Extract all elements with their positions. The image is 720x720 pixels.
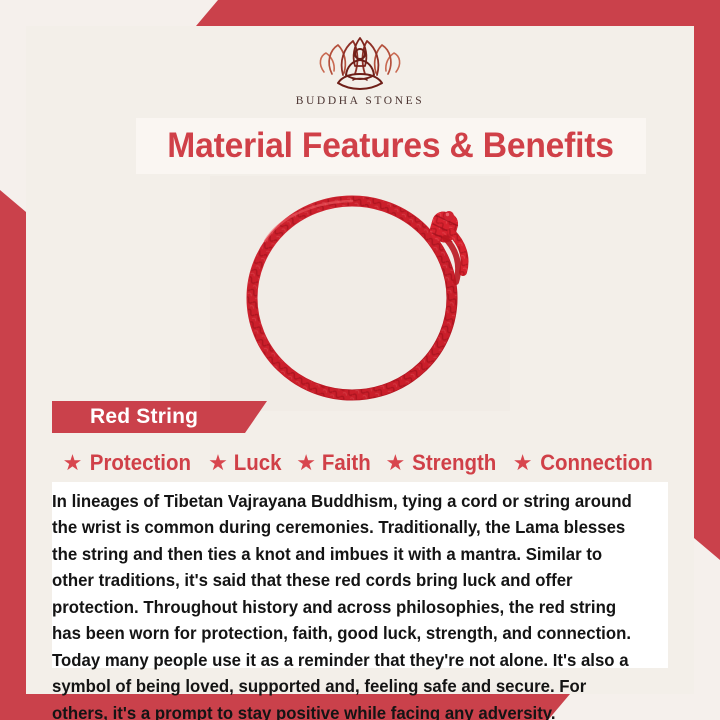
benefit-item-luck: ★ Luck — [203, 450, 288, 476]
description-text: In lineages of Tibetan Vajrayana Buddhis… — [52, 488, 635, 720]
product-name-banner: Red String — [52, 401, 267, 433]
decorative-band-left — [0, 190, 26, 720]
star-icon: ★ — [513, 452, 533, 474]
benefit-item-connection: ★ Connection — [508, 450, 663, 476]
brand-logo: BUDDHA STONES — [26, 34, 694, 107]
infographic-card: BUDDHA STONES Material Features & Benefi… — [0, 0, 720, 720]
product-name: Red String — [90, 405, 198, 429]
benefit-label: Luck — [234, 450, 282, 476]
benefit-item-protection: ★ Protection — [58, 450, 201, 476]
benefit-item-faith: ★ Faith — [291, 450, 377, 476]
decorative-band-right — [694, 0, 720, 560]
product-image — [210, 176, 510, 411]
star-icon: ★ — [386, 452, 406, 474]
headline-banner: Material Features & Benefits — [136, 118, 646, 174]
red-string-bracelet-illustration — [235, 186, 485, 401]
star-icon: ★ — [208, 452, 228, 474]
benefit-label: Faith — [322, 450, 371, 476]
description-panel: In lineages of Tibetan Vajrayana Buddhis… — [52, 482, 668, 668]
brand-name: BUDDHA STONES — [296, 95, 424, 107]
star-icon: ★ — [63, 452, 83, 474]
benefit-item-strength: ★ Strength — [381, 450, 505, 476]
page-title: Material Features & Benefits — [168, 126, 615, 166]
benefits-list: ★ Protection ★ Luck ★ Faith ★ Strength ★… — [52, 445, 668, 481]
benefit-label: Strength — [412, 450, 496, 476]
content-canvas: BUDDHA STONES Material Features & Benefi… — [26, 26, 694, 694]
benefit-label: Protection — [90, 450, 191, 476]
benefit-label: Connection — [541, 450, 654, 476]
lotus-meditation-icon — [314, 34, 406, 92]
star-icon: ★ — [296, 452, 316, 474]
decorative-band-top — [196, 0, 720, 26]
